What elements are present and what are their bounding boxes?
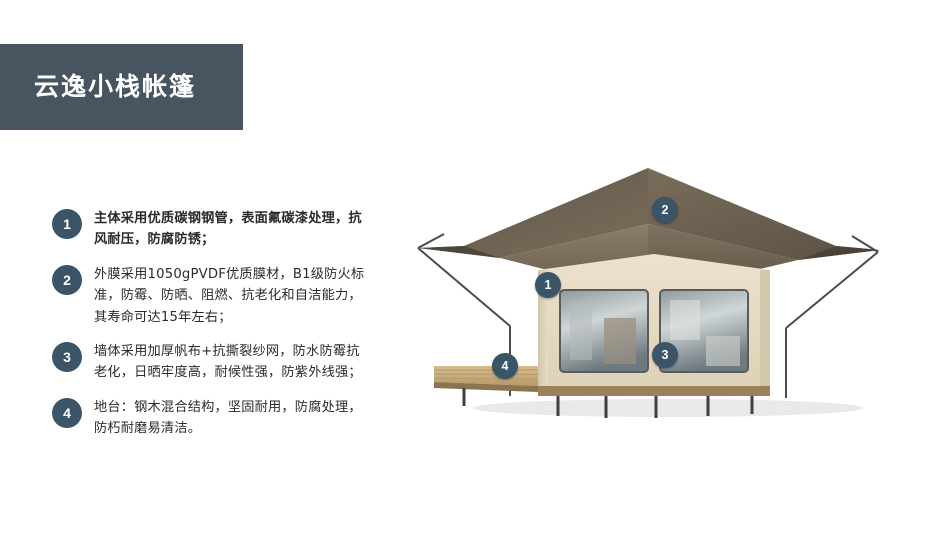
list-item: 1 主体采用优质碳钢钢管，表面氟碳漆处理，抗风耐压，防腐防锈； [52, 208, 372, 251]
feature-description: 外膜采用1050gPVDF优质膜材，B1级防火标准，防霉、防晒、阻燃、抗老化和自… [94, 264, 372, 328]
feature-description: 地台：钢木混合结构，坚固耐用，防腐处理，防朽耐磨易清洁。 [94, 397, 372, 440]
list-item: 4 地台：钢木混合结构，坚固耐用，防腐处理，防朽耐磨易清洁。 [52, 397, 372, 440]
list-item: 2 外膜采用1050gPVDF优质膜材，B1级防火标准，防霉、防晒、阻燃、抗老化… [52, 264, 372, 328]
feature-list: 1 主体采用优质碳钢钢管，表面氟碳漆处理，抗风耐压，防腐防锈； 2 外膜采用10… [52, 208, 372, 452]
slide-page: 云逸小栈帐篷 1 主体采用优质碳钢钢管，表面氟碳漆处理，抗风耐压，防腐防锈； 2… [0, 0, 950, 534]
feature-description: 墙体采用加厚帆布+抗撕裂纱网，防水防霉抗老化，日晒牢度高，耐候性强，防紫外线强； [94, 341, 372, 384]
ground-shadow [473, 399, 863, 417]
feature-number-badge: 4 [52, 398, 82, 428]
feature-number-badge: 2 [52, 265, 82, 295]
tent-illustration [378, 150, 938, 450]
list-item: 3 墙体采用加厚帆布+抗撕裂纱网，防水防霉抗老化，日晒牢度高，耐候性强，防紫外线… [52, 341, 372, 384]
callout-marker-1: 1 [535, 272, 561, 298]
page-title: 云逸小栈帐篷 [34, 72, 196, 102]
feature-number-badge: 1 [52, 209, 82, 239]
callout-marker-3: 3 [652, 342, 678, 368]
callout-marker-2: 2 [652, 197, 678, 223]
title-banner: 云逸小栈帐篷 [0, 44, 243, 130]
feature-number-badge: 3 [52, 342, 82, 372]
feature-description: 主体采用优质碳钢钢管，表面氟碳漆处理，抗风耐压，防腐防锈； [94, 208, 372, 251]
callout-marker-4: 4 [492, 353, 518, 379]
